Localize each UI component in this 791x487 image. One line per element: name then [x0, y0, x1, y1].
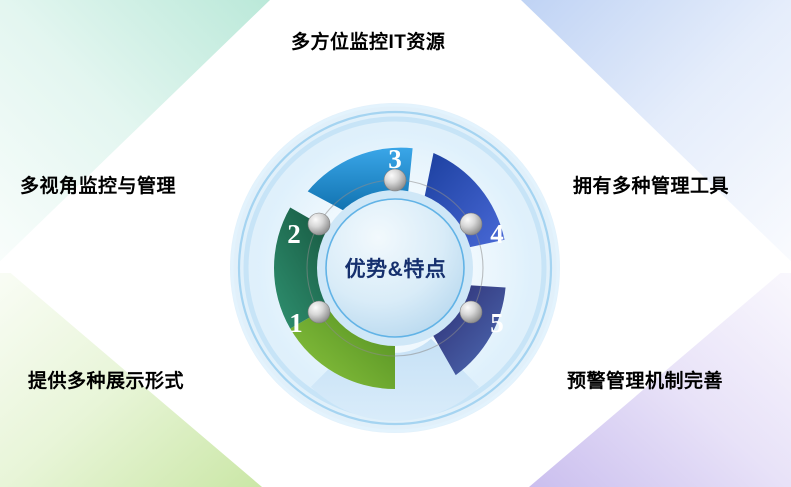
knob-2[interactable] [308, 213, 330, 235]
segment-1-number: 1 [289, 308, 303, 338]
diagram-canvas: 1 2 3 4 5 优势&特点 多方位监控IT资源 多视角监控与管理 拥有多种管… [0, 0, 791, 487]
knob-4[interactable] [460, 213, 482, 235]
segment-3-number: 3 [388, 144, 402, 174]
segment-5-number: 5 [490, 308, 504, 338]
label-left-bottom: 提供多种展示形式 [28, 366, 184, 393]
label-right-bottom: 预警管理机制完善 [567, 366, 723, 393]
knob-1[interactable] [308, 301, 330, 323]
label-left-top: 多视角监控与管理 [20, 171, 176, 198]
center-disc[interactable] [326, 199, 464, 337]
label-top: 多方位监控IT资源 [291, 27, 445, 54]
knob-5[interactable] [460, 301, 482, 323]
segment-2-number: 2 [287, 219, 301, 249]
segment-4-number: 4 [490, 219, 504, 249]
segment-wheel: 1 2 3 4 5 [0, 0, 791, 487]
label-right-top: 拥有多种管理工具 [573, 171, 729, 198]
